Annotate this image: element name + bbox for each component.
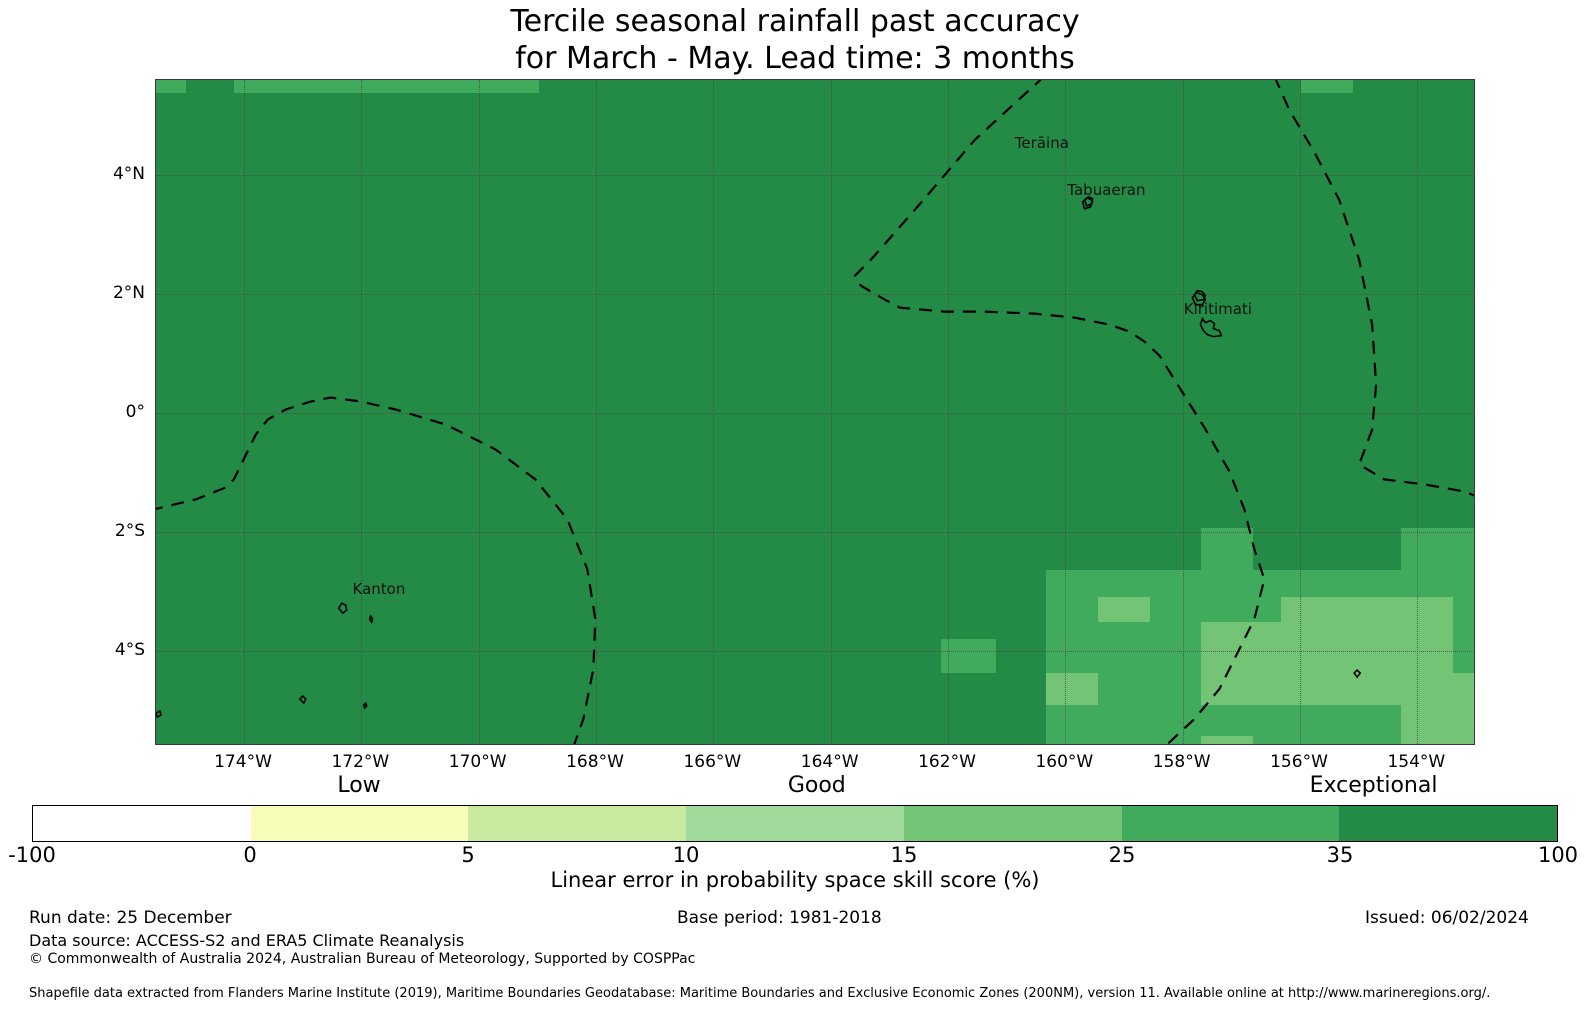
x-tick-label: 156°W xyxy=(1270,752,1328,772)
footer-shapefile-attribution: Shapefile data extracted from Flanders M… xyxy=(29,986,1490,1001)
x-tick-label: 158°W xyxy=(1153,752,1211,772)
x-tick-label: 168°W xyxy=(566,752,624,772)
colorbar-segment xyxy=(33,806,251,841)
x-tick-label: 174°W xyxy=(214,752,272,772)
colorbar-segment xyxy=(904,806,1122,841)
chart-root: Tercile seasonal rainfall past accuracy … xyxy=(0,0,1590,1020)
colorbar-segment xyxy=(468,806,686,841)
colorbar-category-low: Low xyxy=(337,773,380,798)
colorbar-category-labels: LowGoodExceptional xyxy=(0,773,1590,801)
colorbar-tick-label: 10 xyxy=(673,843,700,867)
footer-data-source: Data source: ACCESS-S2 and ERA5 Climate … xyxy=(29,931,464,950)
x-tick-label: 154°W xyxy=(1387,752,1445,772)
colorbar-tick-labels: -1000510152535100 xyxy=(0,843,1590,869)
y-tick-label: 4°N xyxy=(113,164,145,184)
island-label-tabuaeran: Tabuaeran xyxy=(1067,181,1145,199)
y-tick-label: 0° xyxy=(126,402,145,422)
footer-base-period: Base period: 1981-2018 xyxy=(677,908,882,928)
colorbar-axis-label: Linear error in probability space skill … xyxy=(0,868,1590,892)
island-label-kanton: Kanton xyxy=(353,580,406,598)
map-plot-area: TerāinaTabuaeranKiritimatiKanton xyxy=(155,79,1475,745)
colorbar-category-good: Good xyxy=(788,773,846,798)
colorbar-tick-label: 25 xyxy=(1109,843,1136,867)
colorbar-segment xyxy=(251,806,469,841)
y-tick-label: 2°N xyxy=(113,283,145,303)
colorbar-segment xyxy=(1122,806,1340,841)
footer-issued-date: Issued: 06/02/2024 xyxy=(1365,908,1529,928)
footer-run-date: Run date: 25 December xyxy=(29,908,232,928)
island-label-teraina: Terāina xyxy=(1015,134,1069,152)
colorbar xyxy=(32,805,1558,842)
colorbar-segment xyxy=(1339,806,1557,841)
chart-title: Tercile seasonal rainfall past accuracy … xyxy=(0,0,1590,77)
island-label-kiritimati: Kiritimati xyxy=(1184,300,1252,318)
x-tick-label: 166°W xyxy=(683,752,741,772)
colorbar-tick-label: 15 xyxy=(891,843,918,867)
colorbar-category-exceptional: Exceptional xyxy=(1310,773,1438,798)
colorbar-tick-label: 5 xyxy=(461,843,474,867)
island-outlines xyxy=(156,80,1474,745)
x-tick-label: 170°W xyxy=(449,752,507,772)
colorbar-tick-label: 0 xyxy=(243,843,256,867)
colorbar-segment xyxy=(686,806,904,841)
y-tick-label: 4°S xyxy=(115,640,145,660)
x-tick-label: 164°W xyxy=(801,752,859,772)
colorbar-tick-label: 100 xyxy=(1538,843,1578,867)
footer: Run date: 25 December Base period: 1981-… xyxy=(0,903,1590,1020)
colorbar-tick-label: 35 xyxy=(1327,843,1354,867)
footer-copyright: © Commonwealth of Australia 2024, Austra… xyxy=(29,951,695,967)
x-tick-label: 162°W xyxy=(918,752,976,772)
x-tick-label: 172°W xyxy=(331,752,389,772)
colorbar-tick-label: -100 xyxy=(8,843,56,867)
y-tick-label: 2°S xyxy=(115,521,145,541)
x-tick-label: 160°W xyxy=(1035,752,1093,772)
